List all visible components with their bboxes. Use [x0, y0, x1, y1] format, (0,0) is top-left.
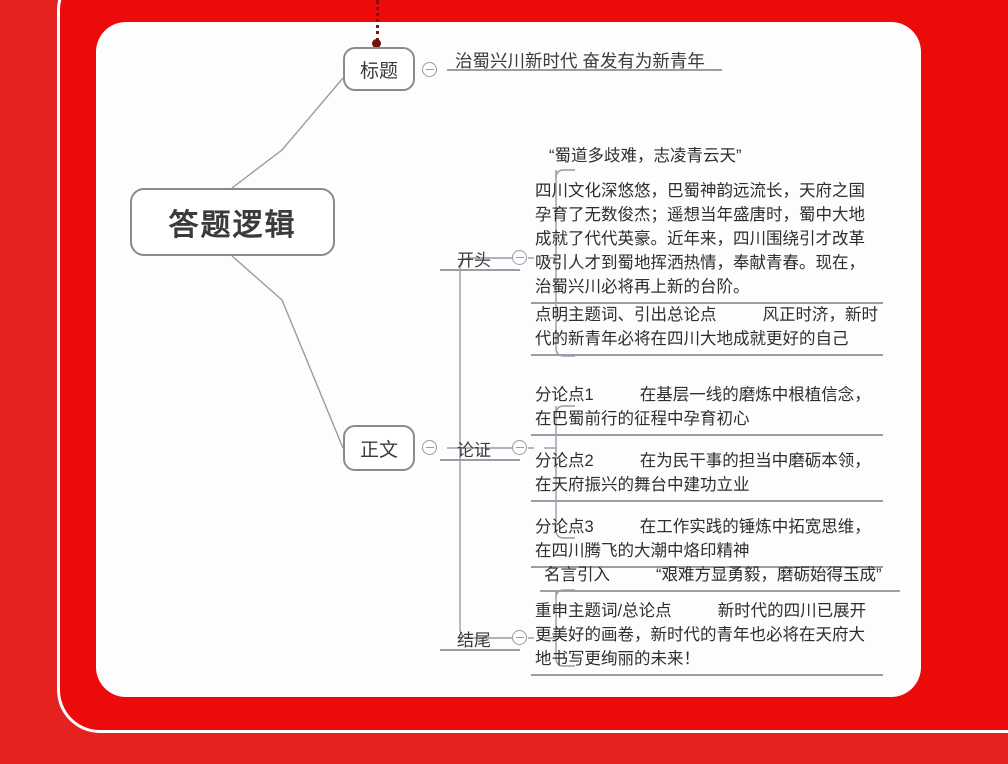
leaf-opening-paragraph[interactable]: 四川文化深悠悠，巴蜀神韵远流长，天府之国孕育了无数俊杰；遥想当年盛唐时，蜀中大地… — [531, 178, 883, 304]
root-stem-dotted-line — [376, 0, 379, 42]
branch-node-body-label: 正文 — [360, 435, 398, 462]
branch-node-body[interactable]: 正文 — [343, 425, 415, 471]
minus-circle-icon-body[interactable] — [422, 440, 437, 455]
leaf-ending-quote[interactable]: 名言引入“艰难方显勇毅，磨砺始得玉成” — [540, 562, 900, 592]
minus-circle-icon-title[interactable] — [422, 62, 437, 77]
leaf-opening-quote-text: “蜀道多歧难，志凌青云天” — [549, 147, 742, 165]
leaf-argument-point-2[interactable]: 分论点2在为民干事的担当中磨砺本领，在天府振兴的舞台中建功立业 — [531, 448, 883, 502]
leaf-ending-restate[interactable]: 重申主题词/总论点新时代的四川已展开更美好的画卷，新时代的青年也必将在天府大地书… — [531, 598, 883, 676]
branch-node-title[interactable]: 标题 — [343, 47, 415, 91]
leaf-argument-point-1[interactable]: 分论点1在基层一线的磨炼中根植信念，在巴蜀前行的征程中孕育初心 — [531, 382, 883, 436]
subbranch-label-ending[interactable]: 结尾 — [457, 626, 491, 651]
leaf-ending-quote-lead: 名言引入 — [544, 566, 610, 584]
leaf-title-text[interactable]: 治蜀兴川新时代 奋发有为新青年 — [455, 48, 705, 73]
branch-node-title-label: 标题 — [360, 56, 398, 83]
leaf-ending-restate-lead: 重申主题词/总论点 — [535, 602, 672, 620]
minus-circle-icon-argument[interactable] — [512, 440, 527, 455]
leaf-argument-point-3-lead: 分论点3 — [535, 518, 594, 536]
subbranch-label-opening[interactable]: 开头 — [457, 246, 491, 271]
leaf-argument-point-2-lead: 分论点2 — [535, 452, 594, 470]
root-node-label: 答题逻辑 — [169, 200, 297, 244]
leaf-opening-paragraph-text: 四川文化深悠悠，巴蜀神韵远流长，天府之国孕育了无数俊杰；遥想当年盛唐时，蜀中大地… — [535, 182, 865, 296]
leaf-argument-point-3[interactable]: 分论点3在工作实践的锤炼中拓宽思维，在四川腾飞的大潮中烙印精神 — [531, 514, 883, 568]
mindmap-root-node[interactable]: 答题逻辑 — [130, 188, 335, 256]
minus-circle-icon-opening[interactable] — [512, 250, 527, 265]
leaf-argument-point-1-lead: 分论点1 — [535, 386, 594, 404]
mindmap-canvas — [96, 22, 921, 697]
leaf-ending-quote-text: “艰难方显勇毅，磨砺始得玉成” — [656, 566, 882, 584]
minus-circle-icon-ending[interactable] — [512, 630, 527, 645]
leaf-opening-quote[interactable]: “蜀道多歧难，志凌青云天” — [545, 143, 895, 171]
leaf-opening-thesis[interactable]: 点明主题词、引出总论点风正时济，新时代的新青年必将在四川大地成就更好的自己 — [531, 302, 883, 356]
subbranch-label-argument[interactable]: 论证 — [457, 436, 491, 461]
leaf-opening-thesis-lead: 点明主题词、引出总论点 — [535, 306, 717, 324]
